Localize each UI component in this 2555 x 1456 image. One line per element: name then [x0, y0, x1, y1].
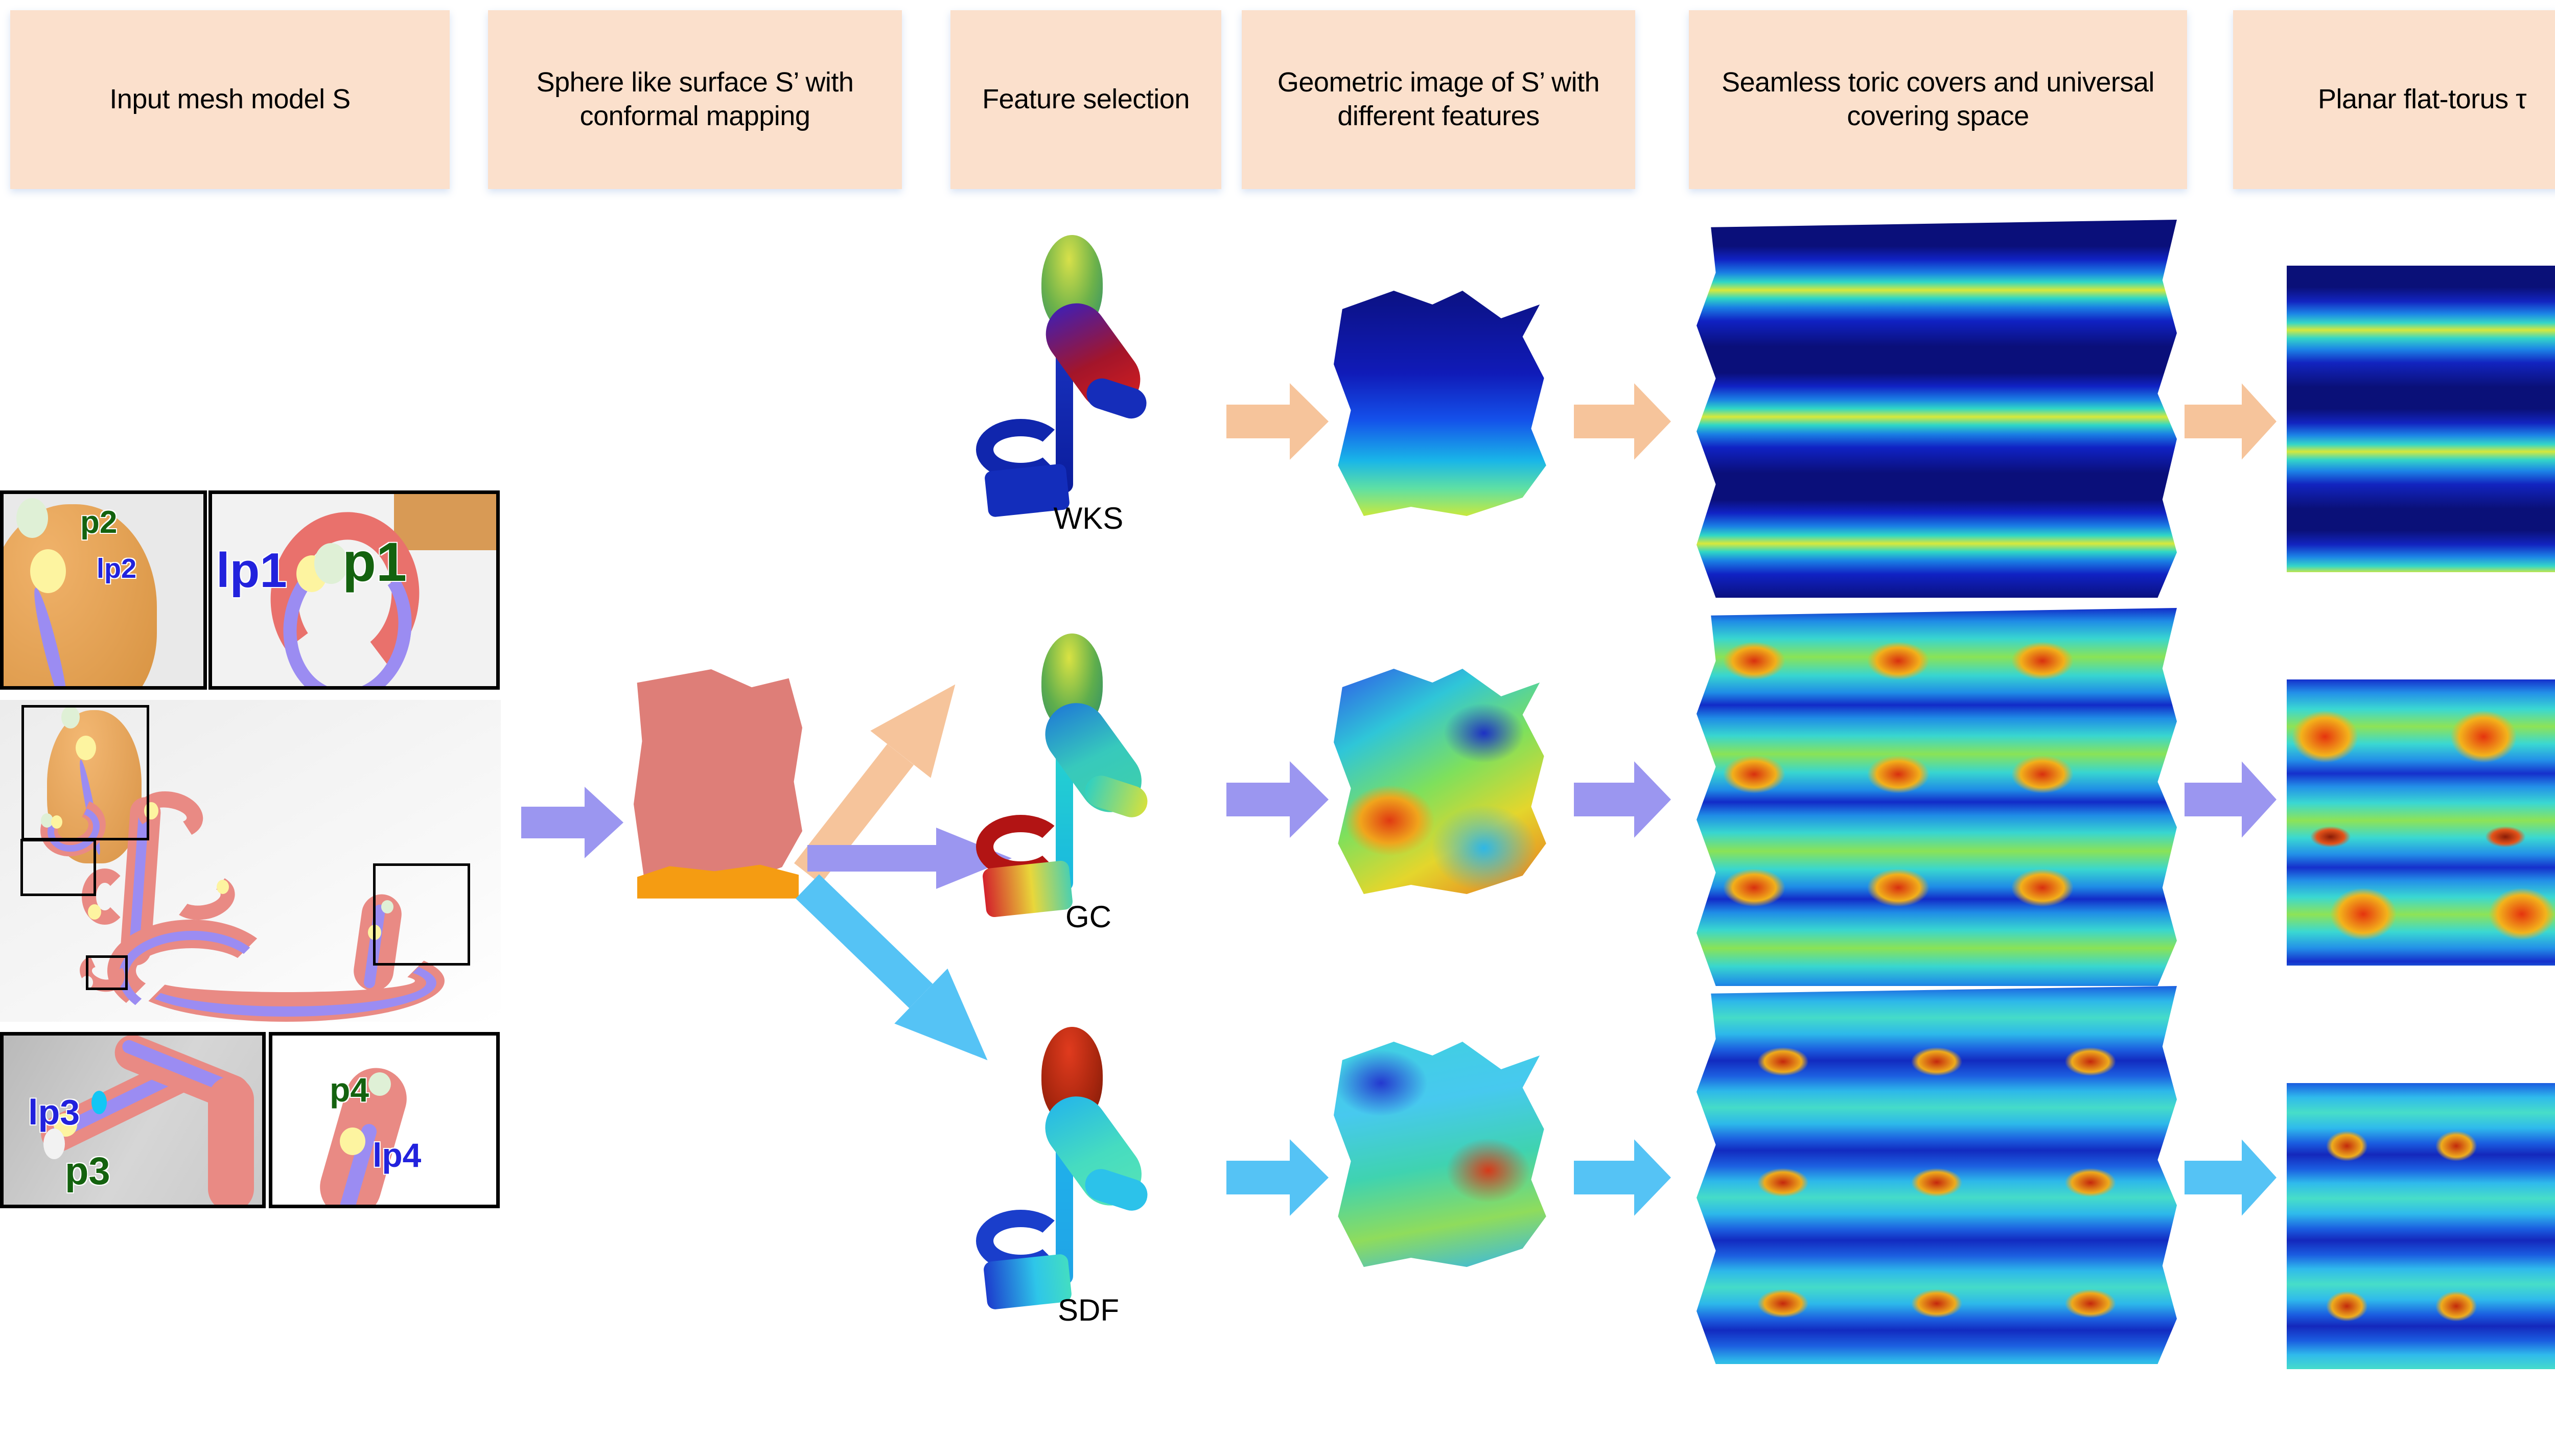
feature-label-wks: WKS — [956, 501, 1221, 536]
conformal-surface-patch — [634, 669, 802, 894]
flow-arrow-input-to-conformal — [521, 787, 623, 858]
inset-panel-p2: p2 lp2 — [0, 490, 207, 690]
inset-panel-p4: p4 lp4 — [269, 1032, 500, 1208]
flow-arrow-geoimage-sdf-to-toric — [1574, 1139, 1671, 1216]
flow-arrow-toric-gc-to-flattorus — [2185, 761, 2277, 838]
roi-box-right — [373, 863, 470, 966]
flow-arrow-geoimage-wks-to-toric — [1574, 383, 1671, 460]
flat-torus-sdf — [2287, 1083, 2555, 1369]
annotation-p3: p3 — [65, 1149, 110, 1193]
geometric-image-wks — [1334, 286, 1548, 516]
geometric-image-gc — [1334, 664, 1548, 894]
flow-arrow-gc-to-geoimage — [1226, 761, 1329, 838]
toric-cover-sdf — [1697, 986, 2177, 1364]
annotation-p1: p1 — [342, 530, 407, 594]
flow-arrow-toric-sdf-to-flattorus — [2185, 1139, 2277, 1216]
input-mesh-composite: p2 lp2 lp1 p1 — [0, 460, 516, 1236]
roi-box-bottom — [86, 955, 128, 990]
toric-cover-wks — [1697, 220, 2177, 598]
stage-header-feature-label: Feature selection — [982, 83, 1190, 116]
annotation-p2: p2 — [80, 504, 117, 541]
annotation-lp3: lp3 — [28, 1092, 80, 1133]
stage-header-feature: Feature selection — [950, 10, 1221, 189]
feature-label-sdf: SDF — [956, 1293, 1221, 1328]
annotation-lp1: lp1 — [216, 543, 287, 599]
annotation-lp4: lp4 — [373, 1136, 421, 1175]
flow-arrow-wks-to-geoimage — [1226, 383, 1329, 460]
roi-box-top — [21, 705, 149, 840]
vessel-model-panel — [0, 700, 501, 1022]
stage-header-geoimage: Geometric image of S’ with different fea… — [1242, 10, 1635, 189]
stage-header-geoimage-label: Geometric image of S’ with different fea… — [1247, 66, 1630, 133]
stage-header-flattorus-label: Planar flat-torus τ — [2318, 83, 2526, 116]
stage-header-conformal-label: Sphere like surface S’ with conformal ma… — [493, 66, 897, 133]
flat-torus-gc — [2287, 679, 2555, 966]
annotation-lp2: lp2 — [97, 553, 136, 584]
feature-model-wks: WKS — [956, 235, 1221, 542]
inset-panel-p1: lp1 p1 — [208, 490, 500, 690]
stage-header-toric-label: Seamless toric covers and universal cove… — [1694, 66, 2182, 133]
feature-model-sdf: SDF — [956, 1027, 1221, 1333]
toric-cover-gc — [1697, 608, 2177, 986]
stage-header-flattorus: Planar flat-torus τ — [2233, 10, 2555, 189]
stage-header-toric: Seamless toric covers and universal cove… — [1689, 10, 2187, 189]
stage-header-input: Input mesh model S — [10, 10, 450, 189]
stage-header-input-label: Input mesh model S — [109, 83, 350, 116]
stage-header-conformal: Sphere like surface S’ with conformal ma… — [488, 10, 902, 189]
feature-model-gc: GC — [956, 633, 1221, 940]
flow-arrow-geoimage-gc-to-toric — [1574, 761, 1671, 838]
geometric-image-sdf — [1334, 1037, 1548, 1267]
flow-arrow-toric-wks-to-flattorus — [2185, 383, 2277, 460]
inset-panel-p3: lp3 p3 — [0, 1032, 266, 1208]
flow-arrow-sdf-to-geoimage — [1226, 1139, 1329, 1216]
flat-torus-wks — [2287, 266, 2555, 572]
feature-label-gc: GC — [956, 899, 1221, 934]
roi-box-mid — [20, 839, 96, 896]
annotation-p4: p4 — [330, 1070, 369, 1109]
